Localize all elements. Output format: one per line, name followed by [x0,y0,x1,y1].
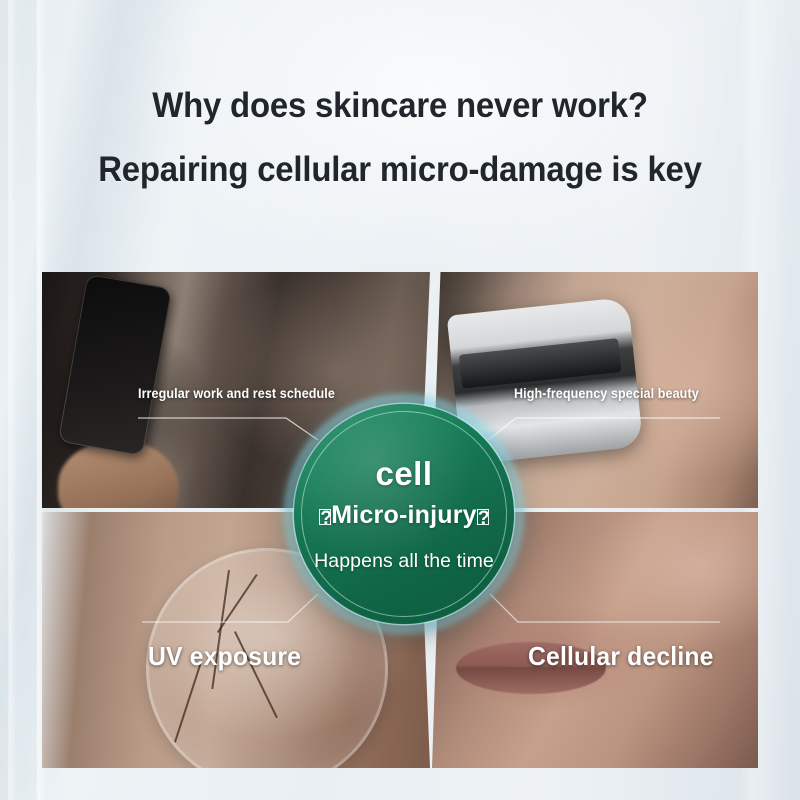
missing-glyph-icon: ? [477,509,489,526]
headline-line-1: Why does skincare never work? [24,84,776,129]
missing-glyph-icon: ? [319,509,331,526]
label-high-frequency-beauty: High-frequency special beauty [514,386,699,401]
circle-text-block: cell ?Micro-injury? Happens all the time [294,404,514,624]
label-uv-exposure: UV exposure [148,641,301,672]
circle-subtitle: ?Micro-injury? [319,503,489,528]
headline-line-2: Repairing cellular micro-damage is key [24,148,776,193]
circle-caption: Happens all the time [314,552,494,572]
hand-shape [58,440,178,508]
circle-title: cell [375,457,432,490]
label-cellular-decline: Cellular decline [528,641,714,672]
headline: Why does skincare never work? Repairing … [0,84,800,193]
poster-page: Why does skincare never work? Repairing … [0,0,800,800]
center-circle: cell ?Micro-injury? Happens all the time [294,404,514,624]
label-irregular-schedule: Irregular work and rest schedule [138,386,335,401]
circle-subtitle-text: Micro-injury [331,501,476,529]
